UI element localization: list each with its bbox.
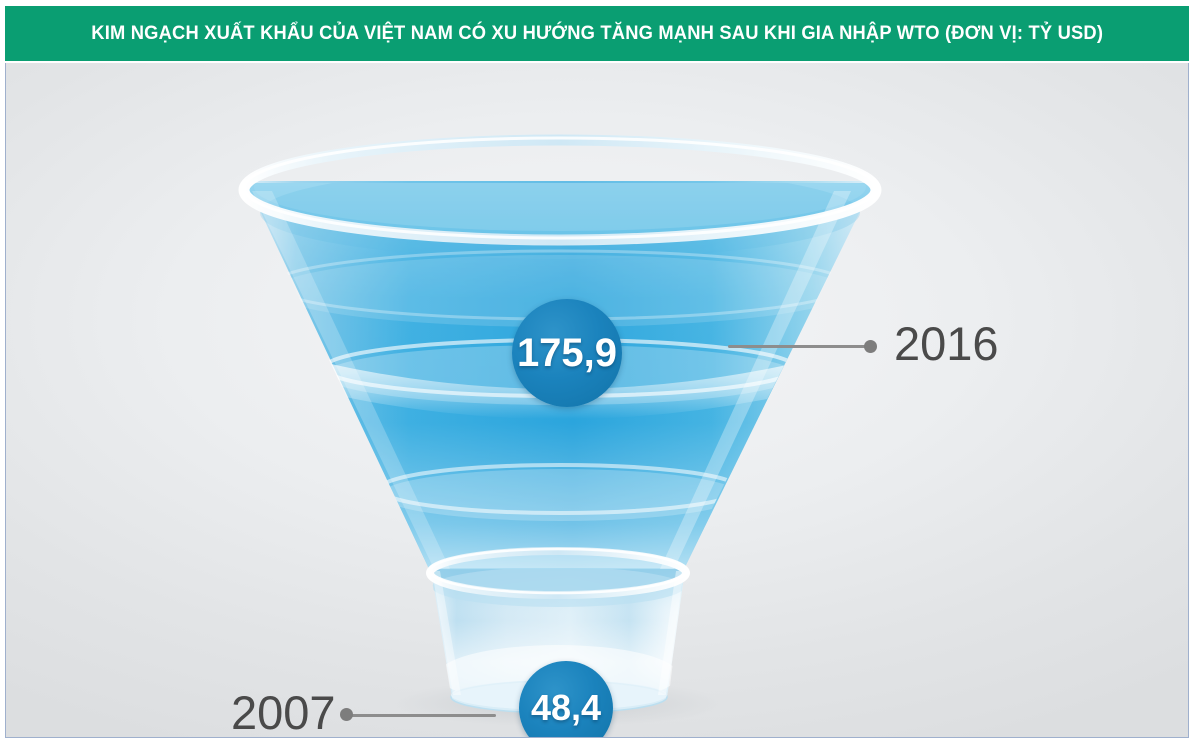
value-label-2007: 48,4 bbox=[531, 690, 601, 726]
header-band: KIM NGẠCH XUẤT KHẨU CỦA VIỆT NAM CÓ XU H… bbox=[5, 6, 1189, 61]
leader-line-2016 bbox=[728, 345, 874, 348]
year-label-2016: 2016 bbox=[894, 320, 999, 367]
chart-panel: 175,9 48,4 2016 2007 bbox=[5, 63, 1189, 738]
value-bubble-2016[interactable]: 175,9 bbox=[512, 299, 622, 407]
year-label-2007: 2007 bbox=[231, 689, 336, 736]
value-label-2016: 175,9 bbox=[517, 333, 617, 373]
leader-dot-2016 bbox=[864, 340, 877, 353]
funnel-chart-graphic bbox=[6, 63, 1188, 736]
infographic-root: KIM NGẠCH XUẤT KHẨU CỦA VIỆT NAM CÓ XU H… bbox=[0, 0, 1200, 745]
leader-line-2007 bbox=[350, 714, 496, 717]
leader-dot-2007 bbox=[340, 708, 353, 721]
page-title: KIM NGẠCH XUẤT KHẨU CỦA VIỆT NAM CÓ XU H… bbox=[91, 22, 1103, 45]
